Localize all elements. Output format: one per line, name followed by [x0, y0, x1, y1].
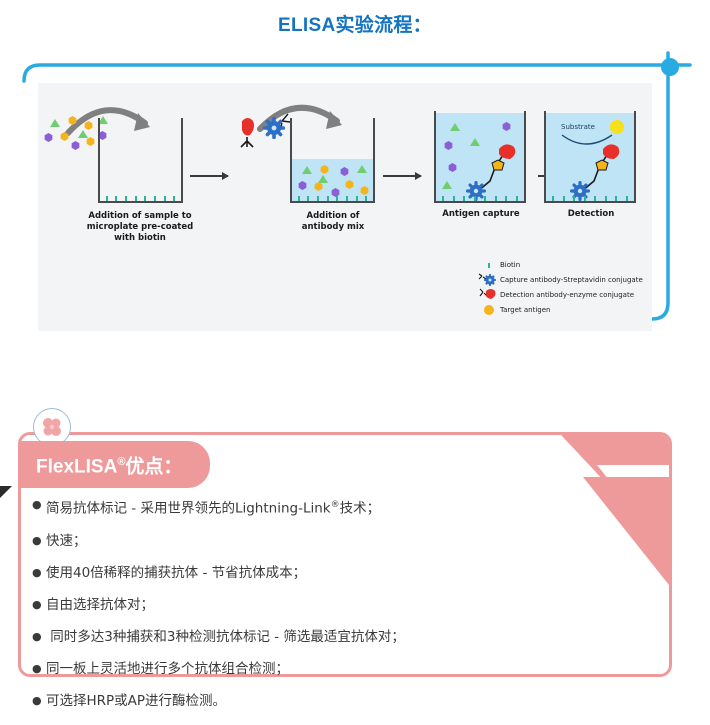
page-title: ELISA实验流程：	[0, 10, 710, 37]
legend-item: Detection antibody-enzyme conjugate	[478, 288, 658, 301]
advantage-text: 可选择HRP或AP进行酶检测。	[46, 693, 226, 709]
stage-caption-2: Addition of antibody mix	[284, 211, 382, 233]
diagram-stage-3: Antigen capture	[426, 83, 536, 243]
microplate-well-1	[98, 118, 183, 203]
list-item: ● 同时多达3种捕获和3种检测抗体标记 - 筛选最适宜抗体对；	[32, 629, 632, 645]
legend-item: Biotin	[478, 258, 658, 271]
blue-corner-dot	[661, 58, 679, 76]
title-tail-decoration	[0, 486, 12, 498]
microplate-well-2	[290, 118, 375, 203]
list-item: ● 同一板上灵活地进行多个抗体组合检测；	[32, 661, 632, 677]
advantages-title-wrap: FlexLISA®优点：	[20, 441, 210, 485]
advantage-text: 自由选择抗体对；	[46, 597, 154, 613]
bullet-icon: ●	[32, 565, 46, 581]
microplate-well-4: Substrate	[544, 111, 636, 203]
target-antigen-icon	[478, 303, 500, 317]
advantages-title: FlexLISA®优点：	[20, 441, 210, 488]
stage-caption-4: Detection	[536, 209, 646, 220]
list-item: ● 快速；	[32, 533, 632, 549]
list-item: ● 使用40倍稀释的捕获抗体 - 节省抗体成本；	[32, 565, 632, 581]
elisa-workflow-diagram: Addition of sample to microplate pre-coa…	[38, 83, 652, 331]
diagram-stage-4: Substrate	[526, 83, 646, 243]
advantages-title-main: FlexLISA	[36, 456, 117, 477]
microplate-well-3	[434, 111, 526, 203]
diagram-stage-2: Addition of antibody mix	[234, 83, 394, 243]
detection-antibody-enzyme-icon	[478, 288, 500, 302]
legend-item: Capture antibody-Streptavidin conjugate	[478, 273, 658, 286]
advantage-text: 同时多达3种捕获和3种检测抗体标记 - 筛选最适宜抗体对；	[46, 629, 405, 645]
diagram-stage-1: Addition of sample to microplate pre-coa…	[38, 83, 198, 243]
bullet-icon: ●	[32, 629, 46, 645]
bullet-icon: ●	[32, 693, 46, 709]
substrate-label: Substrate	[561, 123, 595, 131]
bullet-icon: ●	[32, 597, 46, 613]
stage-caption-1: Addition of sample to microplate pre-coa…	[76, 211, 204, 244]
substrate-dot	[610, 120, 624, 134]
flow-arrow-1	[190, 175, 228, 177]
flow-arrow-2	[383, 175, 421, 177]
capture-antibody-streptavidin-icon	[478, 273, 500, 287]
stage-caption-3: Antigen capture	[426, 209, 536, 220]
capture-antibody-icon	[260, 111, 294, 145]
diagram-legend: Biotin Capture antibody-Streptavidin con…	[478, 258, 658, 318]
legend-item: Target antigen	[478, 303, 658, 316]
detection-complex-icon	[566, 141, 628, 203]
advantages-list: ● 简易抗体标记 - 采用世界领先的Lightning-Link®技术； ● 快…	[32, 497, 632, 725]
bullet-icon: ●	[32, 661, 46, 677]
advantages-title-suffix: 优点：	[125, 456, 182, 477]
advantage-text: 快速；	[46, 533, 87, 549]
list-item: ● 可选择HRP或AP进行酶检测。	[32, 693, 632, 709]
bullet-icon: ●	[32, 533, 46, 549]
antigen-complex-icon	[462, 141, 524, 203]
advantage-text: 使用40倍稀释的捕获抗体 - 节省抗体成本；	[46, 565, 306, 581]
list-item: ● 简易抗体标记 - 采用世界领先的Lightning-Link®技术；	[32, 497, 632, 517]
advantage-text: 同一板上灵活地进行多个抗体组合检测；	[46, 661, 289, 677]
biotin-icon	[478, 260, 500, 270]
list-item: ● 自由选择抗体对；	[32, 597, 632, 613]
bullet-icon: ●	[32, 497, 46, 513]
advantage-text: 简易抗体标记 - 采用世界领先的Lightning-Link®技术；	[46, 497, 380, 517]
